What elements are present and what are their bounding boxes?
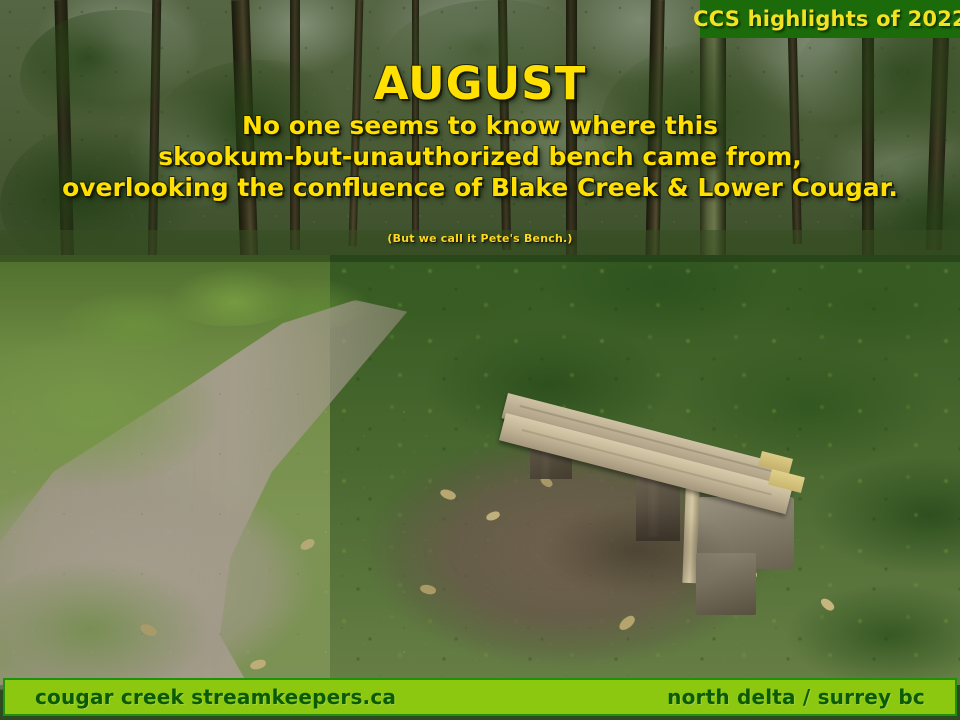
caption-line-1: No one seems to know where this [0,110,960,141]
caption-aside: (But we call it Pete's Bench.) [0,232,960,245]
caption-block: AUGUST No one seems to know where this s… [0,58,960,203]
bench-shadow [505,470,765,620]
slide: CCS highlights of 2022 AUGUST No one see… [0,0,960,720]
header-banner: CCS highlights of 2022 [700,0,960,38]
footer-website[interactable]: cougar creek streamkeepers.ca [35,685,396,709]
caption-month: AUGUST [0,58,960,110]
footer-bar: cougar creek streamkeepers.ca north delt… [3,678,957,716]
header-banner-text: CCS highlights of 2022 [693,7,960,31]
footer-location: north delta / surrey bc [667,685,925,709]
caption-line-2: skookum-but-unauthorized bench came from… [0,141,960,172]
caption-line-3: overlooking the confluence of Blake Cree… [0,172,960,203]
